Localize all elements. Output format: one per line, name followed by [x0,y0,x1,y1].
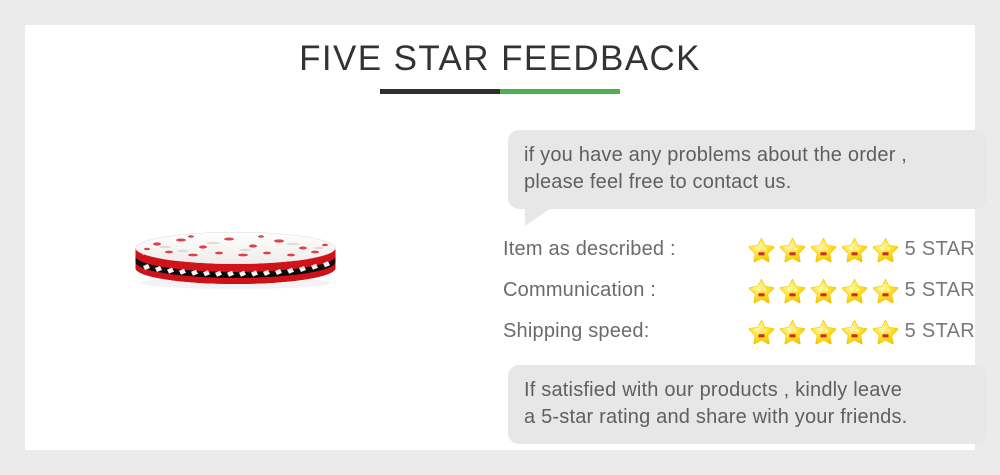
star-icon [841,277,868,304]
star-icon [872,318,899,345]
product-image [133,228,338,290]
star-icon [810,277,837,304]
star-icon [872,236,899,263]
feedback-column: if you have any problems about the order… [483,25,975,450]
contact-notice-line-1: if you have any problems about the order… [524,142,971,169]
rating-label: Item as described : [503,238,748,261]
rating-label: Shipping speed: [503,320,748,343]
ribbon-roll-illustration [133,228,338,290]
star-icon [872,277,899,304]
star-icon [779,277,806,304]
star-icon [748,318,775,345]
star-icon [810,318,837,345]
rating-row-shipping-speed: Shipping speed: 5 STAR [503,311,975,352]
review-request-bubble: If satisfied with our products , kindly … [508,365,987,444]
review-request-line-1: If satisfied with our products , kindly … [524,377,971,404]
star-icon [748,236,775,263]
rating-value: 5 STAR [905,320,975,343]
star-icon [779,318,806,345]
rating-row-communication: Communication : 5 STAR [503,270,975,311]
rating-value: 5 STAR [905,238,975,261]
review-request-line-2: a 5-star rating and share with your frie… [524,404,971,431]
star-rating-item-as-described [748,236,905,263]
star-icon [841,236,868,263]
contact-notice-bubble: if you have any problems about the order… [508,130,987,209]
star-rating-communication [748,277,905,304]
star-icon [779,236,806,263]
star-icon [841,318,868,345]
rating-label: Communication : [503,279,748,302]
divider-dark-segment [380,89,500,94]
rating-value: 5 STAR [905,279,975,302]
content-panel: FIVE STAR FEEDBACK [25,25,975,450]
feedback-banner: FIVE STAR FEEDBACK [0,0,1000,475]
ratings-list: Item as described : 5 STAR Communication… [503,229,975,352]
star-rating-shipping-speed [748,318,905,345]
rating-row-item-as-described: Item as described : 5 STAR [503,229,975,270]
star-icon [810,236,837,263]
star-icon [748,277,775,304]
contact-notice-line-2: please feel free to contact us. [524,169,971,196]
